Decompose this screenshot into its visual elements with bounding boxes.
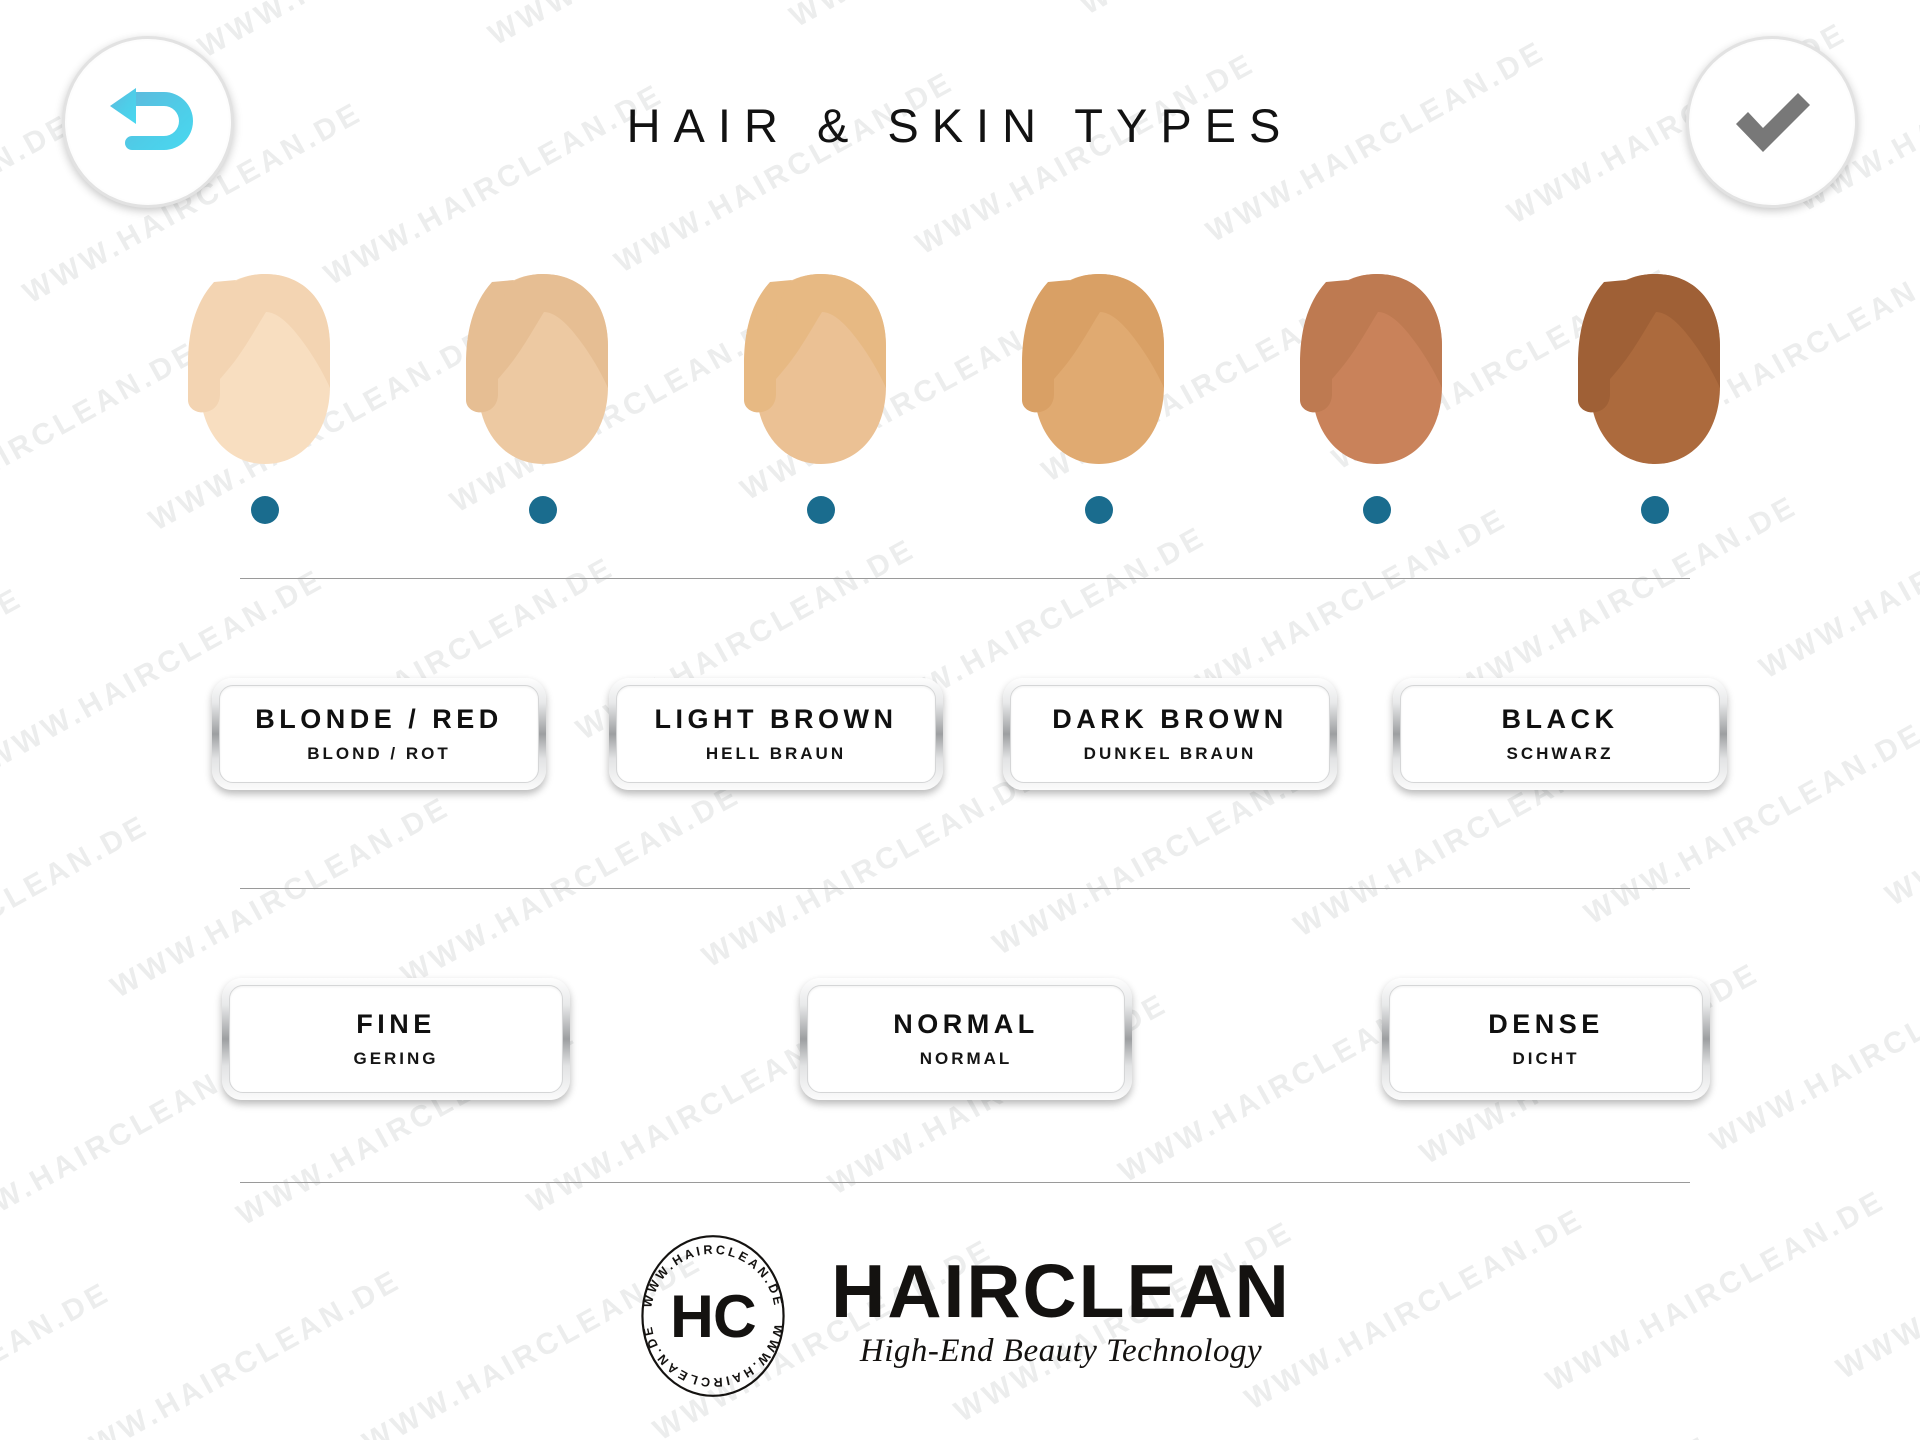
- option-label-de: HELL BRAUN: [706, 744, 846, 764]
- option-label-en: NORMAL: [893, 1009, 1038, 1040]
- hair-density-option-dense[interactable]: DENSE DICHT: [1382, 978, 1710, 1100]
- skin-tone-indicator-dot[interactable]: [1641, 496, 1669, 524]
- skin-tone-row: [160, 268, 1760, 568]
- option-label-en: BLONDE / RED: [255, 704, 503, 735]
- app-screen: WWW.HAIRCLEAN.DEWWW.HAIRCLEAN.DEWWW.HAIR…: [0, 0, 1920, 1440]
- hair-density-option-fine[interactable]: FINE GERING: [222, 978, 570, 1100]
- hair-color-option-black[interactable]: BLACK SCHWARZ: [1393, 678, 1727, 790]
- divider-bottom: [240, 1182, 1690, 1183]
- skin-tone-swatch-1[interactable]: [160, 268, 370, 568]
- option-label-en: FINE: [356, 1009, 436, 1040]
- option-label-de: DICHT: [1513, 1049, 1580, 1069]
- brand-tagline: High-End Beauty Technology: [860, 1333, 1262, 1370]
- confirm-button[interactable]: [1686, 36, 1858, 208]
- skin-tone-indicator-dot[interactable]: [807, 496, 835, 524]
- option-label-de: BLOND / ROT: [307, 744, 451, 764]
- page-title: HAIR & SKIN TYPES: [0, 98, 1920, 153]
- head-silhouette-icon: [1004, 268, 1194, 468]
- head-silhouette-icon: [448, 268, 638, 468]
- head-silhouette-icon: [726, 268, 916, 468]
- hair-color-option-light-brown[interactable]: LIGHT BROWN HELL BRAUN: [609, 678, 943, 790]
- skin-tone-swatch-3[interactable]: [716, 268, 926, 568]
- hair-color-option-dark-brown[interactable]: DARK BROWN DUNKEL BRAUN: [1003, 678, 1337, 790]
- option-label-de: DUNKEL BRAUN: [1084, 744, 1257, 764]
- option-label-en: DARK BROWN: [1052, 704, 1287, 735]
- divider-middle: [240, 888, 1690, 889]
- option-label-de: NORMAL: [920, 1049, 1013, 1069]
- skin-tone-swatch-2[interactable]: [438, 268, 648, 568]
- brand-footer: WWW.HAIRCLEAN.DE WWW.HAIRCLEAN.DE HC HAI…: [0, 1232, 1920, 1400]
- svg-text:HC: HC: [670, 1282, 756, 1350]
- skin-tone-swatch-5[interactable]: [1272, 268, 1482, 568]
- checkmark-icon: [1726, 82, 1818, 162]
- skin-tone-indicator-dot[interactable]: [1085, 496, 1113, 524]
- divider-top: [240, 578, 1690, 579]
- option-label-de: SCHWARZ: [1507, 744, 1614, 764]
- hair-density-option-normal[interactable]: NORMAL NORMAL: [800, 978, 1132, 1100]
- head-silhouette-icon: [1560, 268, 1750, 468]
- option-label-de: GERING: [353, 1049, 438, 1069]
- option-label-en: BLACK: [1502, 704, 1619, 735]
- head-silhouette-icon: [170, 268, 360, 468]
- skin-tone-swatch-6[interactable]: [1550, 268, 1760, 568]
- skin-tone-indicator-dot[interactable]: [1363, 496, 1391, 524]
- skin-tone-indicator-dot[interactable]: [529, 496, 557, 524]
- option-label-en: LIGHT BROWN: [655, 704, 898, 735]
- hair-color-option-blonde-red[interactable]: BLONDE / RED BLOND / ROT: [212, 678, 546, 790]
- skin-tone-indicator-dot[interactable]: [251, 496, 279, 524]
- hairclean-badge-logo: WWW.HAIRCLEAN.DE WWW.HAIRCLEAN.DE HC: [629, 1232, 797, 1400]
- skin-tone-swatch-4[interactable]: [994, 268, 1204, 568]
- brand-name: HAIRCLEAN: [831, 1256, 1291, 1327]
- option-label-en: DENSE: [1488, 1009, 1604, 1040]
- head-silhouette-icon: [1282, 268, 1472, 468]
